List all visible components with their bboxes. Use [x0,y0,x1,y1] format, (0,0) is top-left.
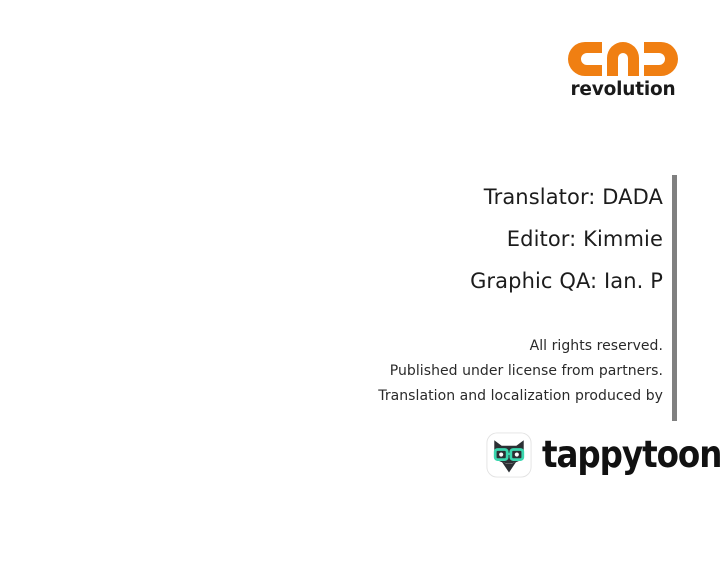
credit-line-editor: Editor: Kimmie [243,218,663,260]
tappytoon-logo: tappytoon [486,430,720,480]
legal-line-license: Published under license from partners. [203,359,663,384]
cnc-revolution-logo: revolution [566,40,680,102]
credit-line-graphic-qa: Graphic QA: Ian. P [243,260,663,302]
cnc-mark-icon [566,40,680,78]
credits-block: Translator: DADA Editor: Kimmie Graphic … [243,176,663,302]
credit-line-translator: Translator: DADA [243,176,663,218]
tappytoon-wordmark: tappytoon [542,435,720,475]
cat-mascot-icon [486,432,532,478]
legal-line-produced-by: Translation and localization produced by [203,384,663,409]
vertical-divider-bar [672,175,677,421]
legal-block: All rights reserved. Published under lic… [203,334,663,409]
legal-line-rights: All rights reserved. [203,334,663,359]
cnc-revolution-wordmark: revolution [566,79,680,101]
page-canvas: revolution Translator: DADA Editor: Kimm… [0,0,720,579]
